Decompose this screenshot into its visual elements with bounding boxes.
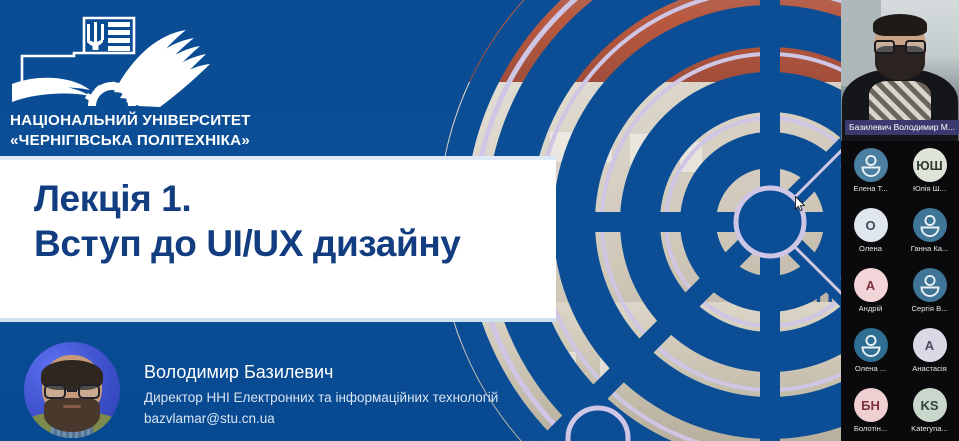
participant-name: Сергія В...	[911, 304, 947, 314]
participant-name: Андрій	[859, 304, 883, 314]
participant-grid[interactable]: Елена Т... ЮШ Юлія Ш... О Олена Ганна Ка…	[841, 141, 959, 441]
avatar-silhouette-icon	[854, 148, 888, 182]
participant-tile[interactable]: О Олена	[841, 201, 900, 261]
participant-name: Анастасія	[912, 364, 947, 374]
avatar-silhouette-icon	[913, 208, 947, 242]
presenter-email: bazvlamar@stu.cn.ua	[144, 411, 275, 426]
participant-tile[interactable]: А Анастасія	[900, 321, 959, 381]
avatar-initials: ЮШ	[913, 148, 947, 182]
avatar-initials: А	[854, 268, 888, 302]
active-speaker-tile[interactable]: Базилевич Володимир М...	[841, 0, 959, 141]
presenter-name: Володимир Базилевич	[144, 362, 333, 383]
avatar-initials: KS	[913, 388, 947, 422]
title-band-bottom-edge	[0, 318, 556, 322]
participant-name: Болотін...	[854, 424, 887, 434]
avatar-initials: О	[854, 208, 888, 242]
participant-name: Олена	[859, 244, 882, 254]
logo-line-1: НАЦІОНАЛЬНИЙ УНІВЕРСИТЕТ	[10, 111, 251, 129]
avatar-initials: БН	[854, 388, 888, 422]
mouse-pointer	[795, 196, 806, 212]
participant-name: Kateryna...	[911, 424, 948, 434]
participant-tile[interactable]: А Андрій	[841, 261, 900, 321]
participant-name: Олена ...	[855, 364, 886, 374]
participant-name: Юлія Ш...	[913, 184, 946, 194]
chernihiv-polytechnic-logo: НАЦІОНАЛЬНИЙ УНІВЕРСИТЕТ «ЧЕРНІГІВСЬКА П…	[8, 6, 264, 152]
participant-name: Елена Т...	[853, 184, 887, 194]
presenter-role: Директор ННІ Електронних та інформаційни…	[144, 390, 498, 405]
speaker-glasses	[874, 40, 926, 54]
logo-line-2: «ЧЕРНІГІВСЬКА ПОЛІТЕХНІКА»	[10, 132, 250, 149]
avatar-silhouette-icon	[854, 328, 888, 362]
participant-tile[interactable]: Елена Т...	[841, 141, 900, 201]
participant-name: Ганна Ка...	[911, 244, 949, 254]
speaker-hair	[873, 14, 927, 36]
participant-tile[interactable]: ЮШ Юлія Ш...	[900, 141, 959, 201]
avatar-silhouette-icon	[913, 268, 947, 302]
participant-tile[interactable]: KS Kateryna...	[900, 381, 959, 441]
presentation-slide[interactable]: ПОЛІТЕХНІКА Чернігівська	[0, 0, 841, 441]
participant-tile[interactable]: Сергія В...	[900, 261, 959, 321]
active-speaker-name-label: Базилевич Володимир М...	[845, 120, 959, 135]
participant-tile[interactable]: БН Болотін...	[841, 381, 900, 441]
avatar-initials: А	[913, 328, 947, 362]
participant-tile[interactable]: Олена ...	[841, 321, 900, 381]
video-participants-panel[interactable]: Базилевич Володимир М... Елена Т... ЮШ Ю…	[841, 0, 959, 441]
presenter-avatar	[24, 342, 120, 438]
participant-tile[interactable]: Ганна Ка...	[900, 201, 959, 261]
presenter-block: Володимир Базилевич Директор ННІ Електро…	[24, 338, 544, 438]
screen-share-view: ПОЛІТЕХНІКА Чернігівська	[0, 0, 959, 441]
page-title: Лекція 1. Вступ до UI/UX дизайну	[34, 176, 554, 266]
